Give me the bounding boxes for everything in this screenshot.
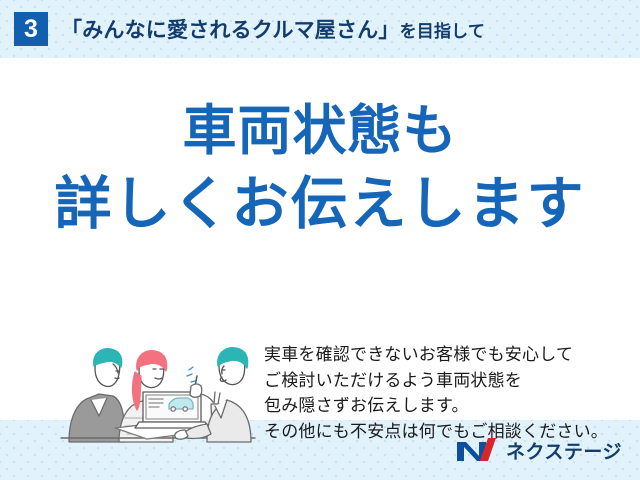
pens xyxy=(214,392,220,404)
brand-name-text: ネクステージ xyxy=(506,437,622,464)
promo-banner: 3 「みんなに愛されるクルマ屋さん」 を目指して 車両状態も 詳しくお伝えします xyxy=(0,0,640,480)
staff-hand xyxy=(190,384,202,397)
header-title: 「みんなに愛されるクルマ屋さん」 を目指して xyxy=(61,14,485,44)
body-copy-line-1: 実車を確認できないお客様でも安心して xyxy=(264,342,624,368)
car-wheel-left xyxy=(171,407,175,411)
brand-logo: ネクステージ xyxy=(455,436,622,464)
headline: 車両状態も 詳しくお伝えします xyxy=(0,96,640,243)
content-card: 車両状態も 詳しくお伝えします xyxy=(0,58,640,420)
nextage-n-logo-icon xyxy=(455,436,499,464)
header-title-main: 「みんなに愛されるクルマ屋さん」 xyxy=(61,14,400,44)
banner-header: 3 「みんなに愛されるクルマ屋さん」 を目指して xyxy=(0,0,640,58)
body-copy-line-3: 包み隠さずお伝えします。 xyxy=(264,393,624,419)
headline-line-2: 詳しくお伝えします xyxy=(0,167,640,242)
body-copy-line-2: ご検討いただけるよう車両状態を xyxy=(264,368,624,394)
man-mouth xyxy=(115,378,119,379)
step-number-badge: 3 xyxy=(14,12,48,46)
staff-arm-raised xyxy=(201,394,213,402)
car-wheel-right xyxy=(183,407,187,411)
headline-line-1: 車両状態も xyxy=(0,96,640,167)
banner-footer: ネクステージ xyxy=(0,420,640,480)
speech-sparkles xyxy=(187,367,195,382)
header-title-suffix: を目指して xyxy=(400,17,486,42)
